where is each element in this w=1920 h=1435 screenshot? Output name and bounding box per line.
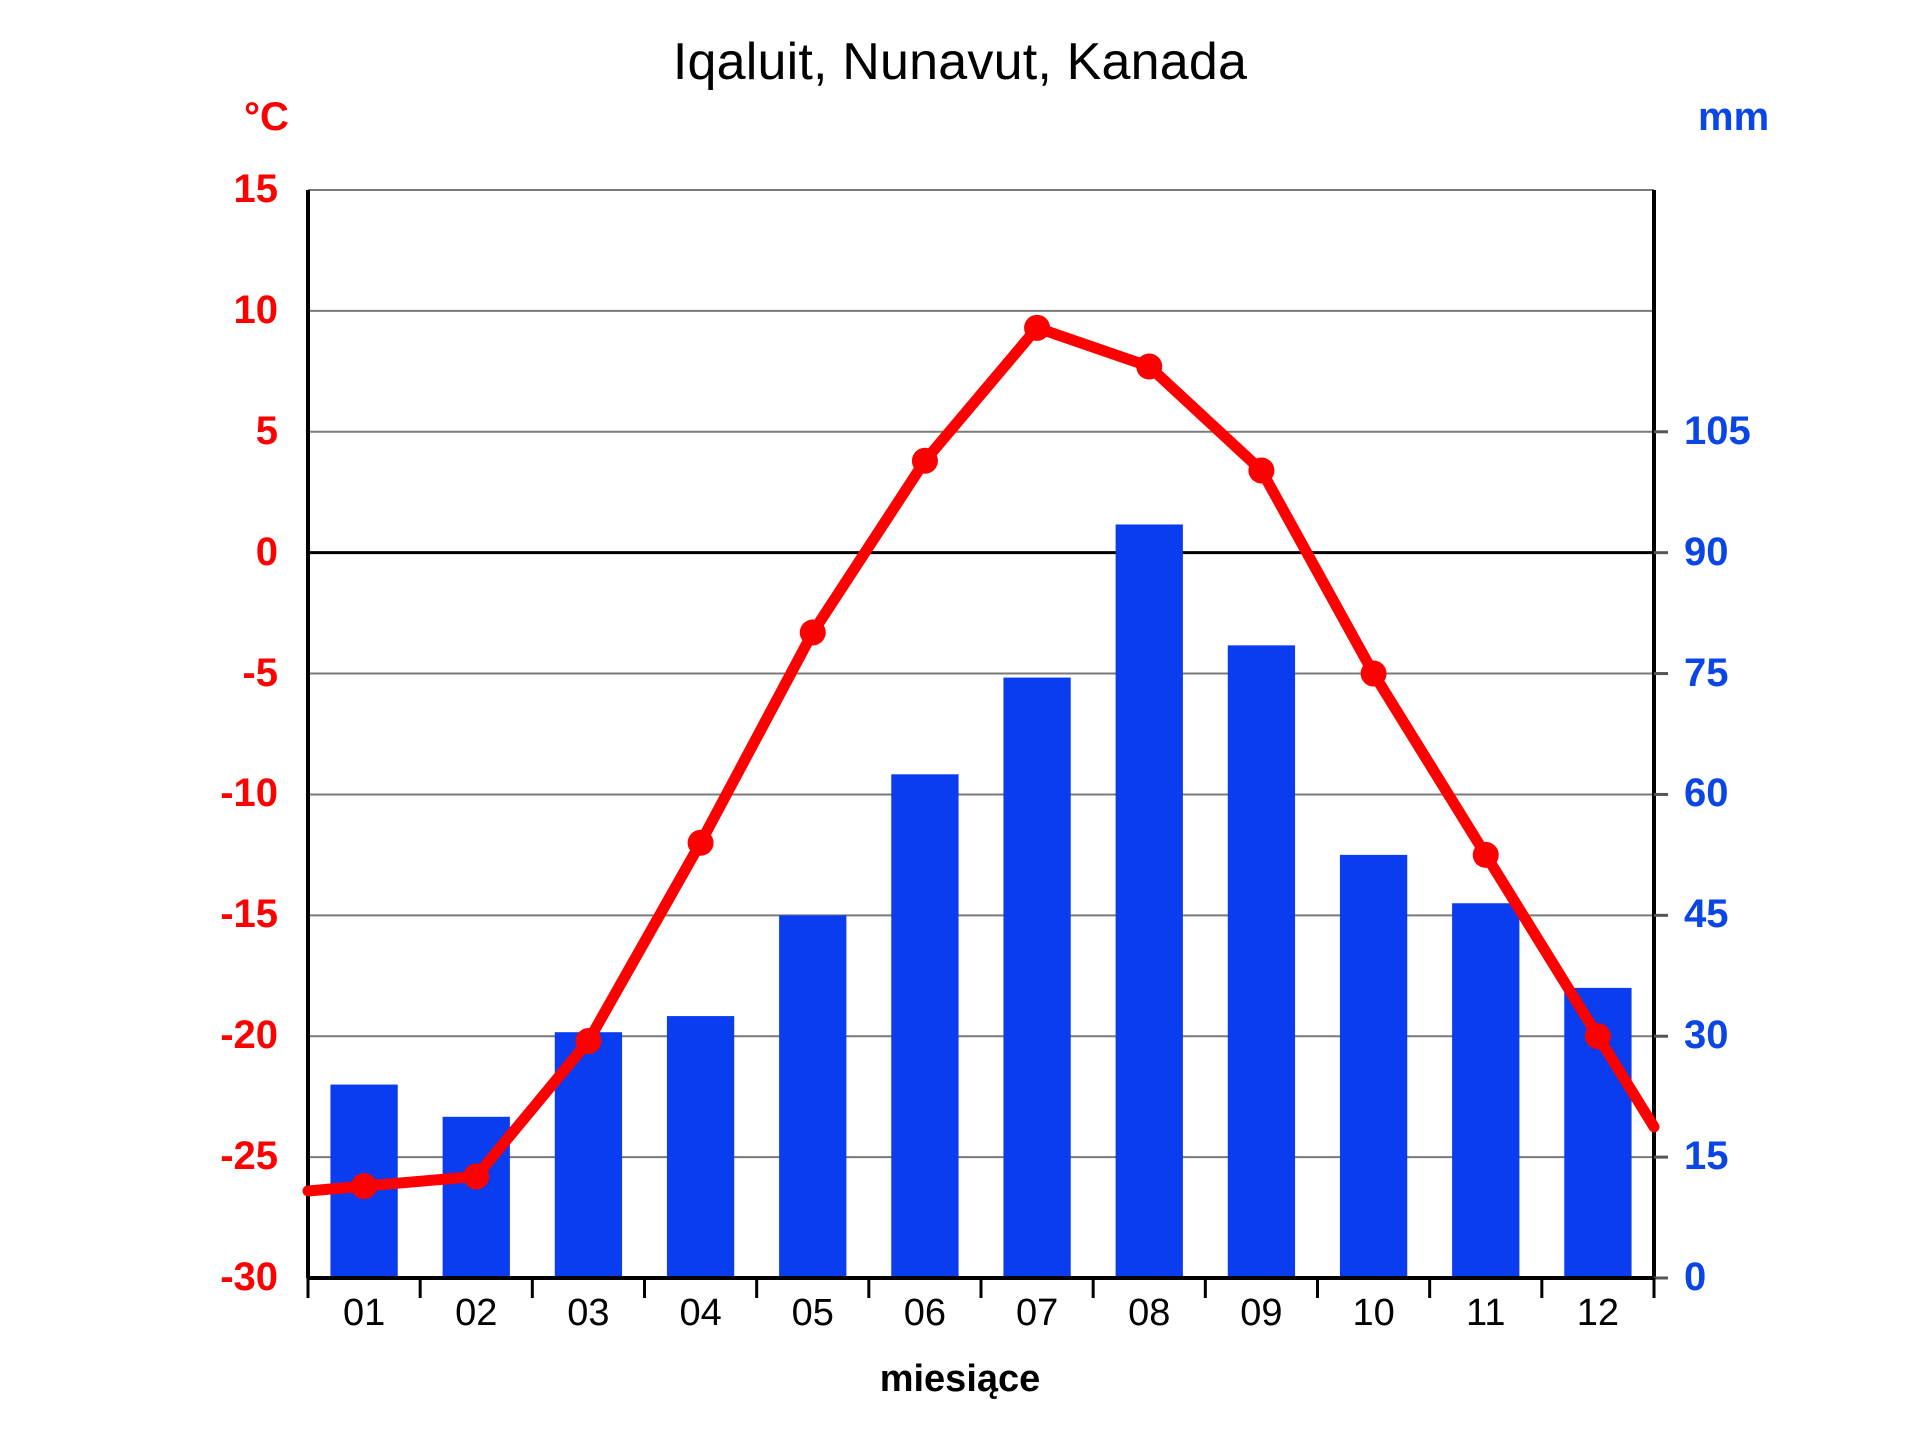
x-tick-label: 03 xyxy=(528,1292,648,1335)
bar xyxy=(1228,645,1295,1278)
right-tick-label: 90 xyxy=(1684,532,1814,572)
x-tick-label: 07 xyxy=(977,1292,1097,1335)
x-axis-title: miesiące xyxy=(0,1358,1920,1401)
right-tick-label: 60 xyxy=(1684,773,1814,813)
left-tick-label: -30 xyxy=(158,1257,278,1297)
climate-chart: Iqaluit, Nunavut, Kanada °C mm 151050-5-… xyxy=(0,0,1920,1435)
x-tick-label: 09 xyxy=(1201,1292,1321,1335)
right-tick-label: 0 xyxy=(1684,1257,1814,1297)
left-tick-label: -25 xyxy=(158,1136,278,1176)
left-tick-label: -10 xyxy=(158,773,278,813)
temperature-point xyxy=(351,1173,377,1199)
x-tick-label: 10 xyxy=(1314,1292,1434,1335)
left-tick-label: 10 xyxy=(158,290,278,330)
right-tick-label: 45 xyxy=(1684,894,1814,934)
temperature-point xyxy=(688,830,714,856)
right-tick-label: 75 xyxy=(1684,653,1814,693)
temperature-point xyxy=(1248,457,1274,483)
temperature-point xyxy=(1361,661,1387,687)
x-tick-label: 12 xyxy=(1538,1292,1658,1335)
left-tick-label: 15 xyxy=(158,169,278,209)
temperature-point xyxy=(1136,353,1162,379)
left-tick-label: 5 xyxy=(158,411,278,451)
x-tick-label: 04 xyxy=(641,1292,761,1335)
bar xyxy=(1116,524,1183,1278)
plot-area xyxy=(0,0,1920,1435)
x-tick-label: 05 xyxy=(753,1292,873,1335)
bar xyxy=(1340,855,1407,1278)
temperature-point xyxy=(1024,315,1050,341)
x-tick-label: 11 xyxy=(1426,1292,1546,1335)
right-tick-label: 30 xyxy=(1684,1015,1814,1055)
temperature-point xyxy=(1473,842,1499,868)
temperature-point xyxy=(1585,1023,1611,1049)
bar xyxy=(891,774,958,1278)
left-tick-label: -15 xyxy=(158,894,278,934)
x-tick-label: 02 xyxy=(416,1292,536,1335)
x-tick-label: 06 xyxy=(865,1292,985,1335)
temperature-point xyxy=(912,448,938,474)
left-tick-label: -5 xyxy=(158,653,278,693)
x-tick-label: 08 xyxy=(1089,1292,1209,1335)
x-tick-label: 01 xyxy=(304,1292,424,1335)
temperature-point xyxy=(463,1163,489,1189)
left-tick-label: 0 xyxy=(158,532,278,572)
bar xyxy=(1003,678,1070,1278)
bar xyxy=(1452,903,1519,1278)
right-tick-label: 15 xyxy=(1684,1136,1814,1176)
bar xyxy=(779,915,846,1278)
temperature-point xyxy=(800,619,826,645)
right-tick-label: 105 xyxy=(1684,411,1814,451)
temperature-point xyxy=(575,1028,601,1054)
left-tick-label: -20 xyxy=(158,1015,278,1055)
bar xyxy=(667,1016,734,1278)
